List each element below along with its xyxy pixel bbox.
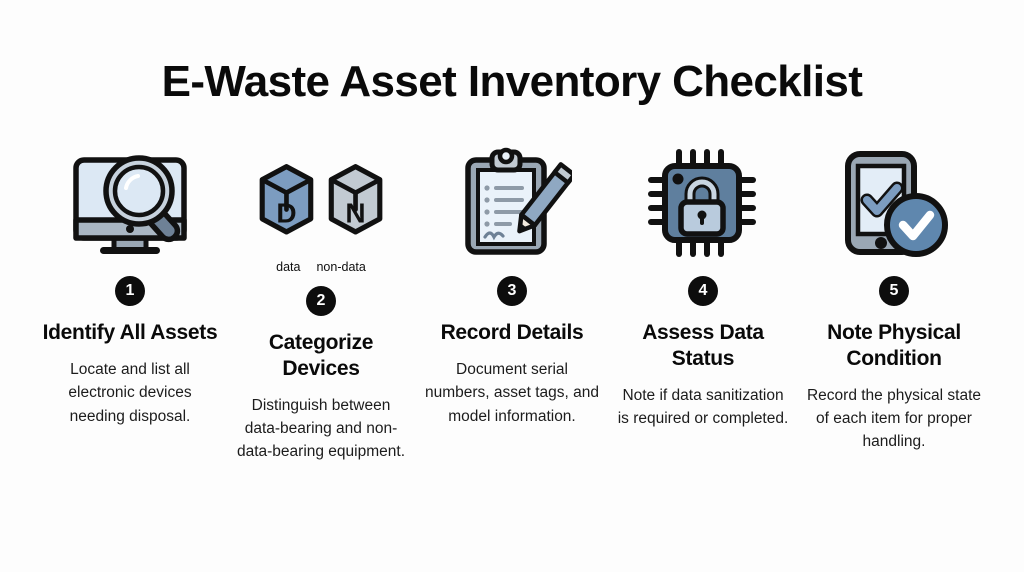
step-item-5: 5 Note Physical Condition Record the phy… [799, 142, 990, 453]
steps-row: 1 Identify All Assets Locate and list al… [0, 142, 1024, 463]
step-badge-3: 3 [497, 276, 527, 306]
step-heading-4: Assess Data Status [613, 320, 793, 371]
step-item-1: 1 Identify All Assets Locate and list al… [35, 142, 226, 427]
step-badge-2: 2 [306, 286, 336, 316]
svg-text:D: D [276, 198, 296, 229]
box-labels: data non-data [276, 260, 366, 274]
step-item-4: 4 Assess Data Status Note if data saniti… [608, 142, 799, 430]
clipboard-pencil-icon [442, 142, 582, 264]
box-label-data: data [276, 260, 300, 274]
box-label-non-data: non-data [316, 260, 365, 274]
page-title: E-Waste Asset Inventory Checklist [0, 0, 1024, 106]
step-badge-1: 1 [115, 276, 145, 306]
two-boxes-icon: D N [251, 142, 391, 264]
step-description-5: Record the physical state of each item f… [806, 384, 982, 454]
step-badge-4: 4 [688, 276, 718, 306]
step-heading-1: Identify All Assets [43, 320, 218, 346]
step-description-1: Locate and list all electronic devices n… [42, 358, 218, 428]
monitor-magnifier-icon [60, 142, 200, 264]
chip-lock-icon [633, 142, 773, 264]
step-item-2: D N data non-data 2 Categorize Devices D… [226, 142, 417, 463]
step-heading-2: Categorize Devices [231, 330, 411, 381]
step-badge-5: 5 [879, 276, 909, 306]
step-description-3: Document serial numbers, asset tags, and… [424, 358, 600, 428]
step-heading-5: Note Physical Condition [804, 320, 984, 371]
step-description-2: Distinguish between data-bearing and non… [233, 394, 409, 464]
svg-text:N: N [345, 198, 365, 229]
step-heading-3: Record Details [441, 320, 584, 346]
step-description-4: Note if data sanitization is required or… [615, 384, 791, 431]
step-item-3: 3 Record Details Document serial numbers… [417, 142, 608, 427]
tablet-check-icon [824, 142, 964, 264]
